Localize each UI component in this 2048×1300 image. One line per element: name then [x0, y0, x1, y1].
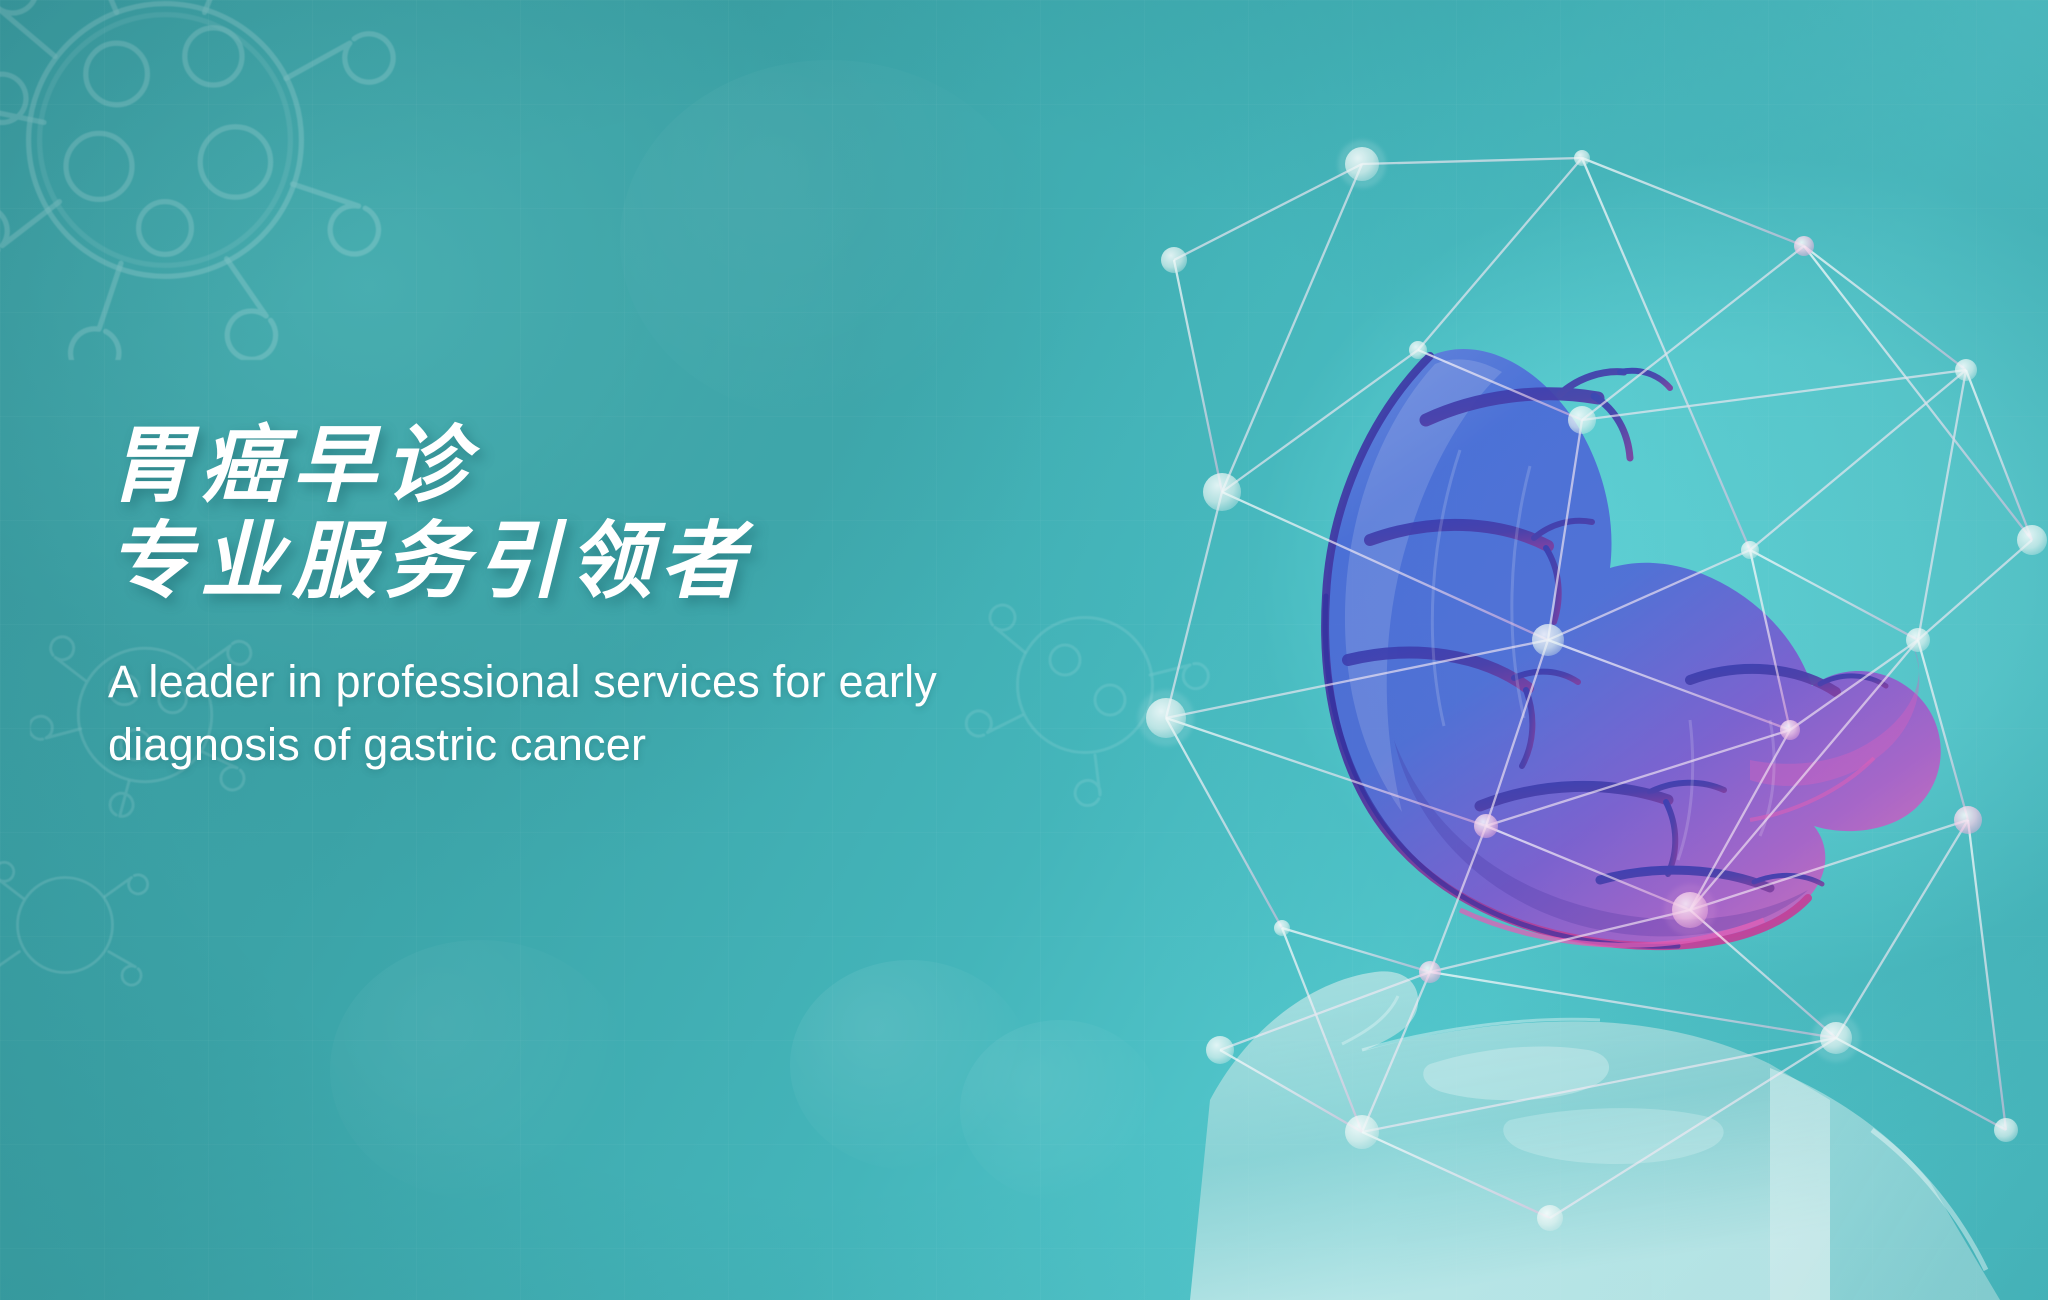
headline-block: 胃癌早诊 专业服务引领者 A leader in professional se…: [108, 418, 1128, 777]
stomach-organ: [1325, 349, 1941, 946]
subtitle-en: A leader in professional services for ea…: [108, 650, 1118, 778]
page-title: 胃癌早诊 专业服务引领者: [108, 418, 1128, 610]
headline-cn-line-1: 胃癌早诊: [108, 418, 476, 512]
banner-root: 胃癌早诊 专业服务引领者 A leader in professional se…: [0, 0, 2048, 1300]
open-hand: [1190, 971, 2000, 1300]
headline-cn-line-2: 专业服务引领者: [108, 514, 1128, 610]
stomach-illustration: [1130, 120, 2048, 1300]
